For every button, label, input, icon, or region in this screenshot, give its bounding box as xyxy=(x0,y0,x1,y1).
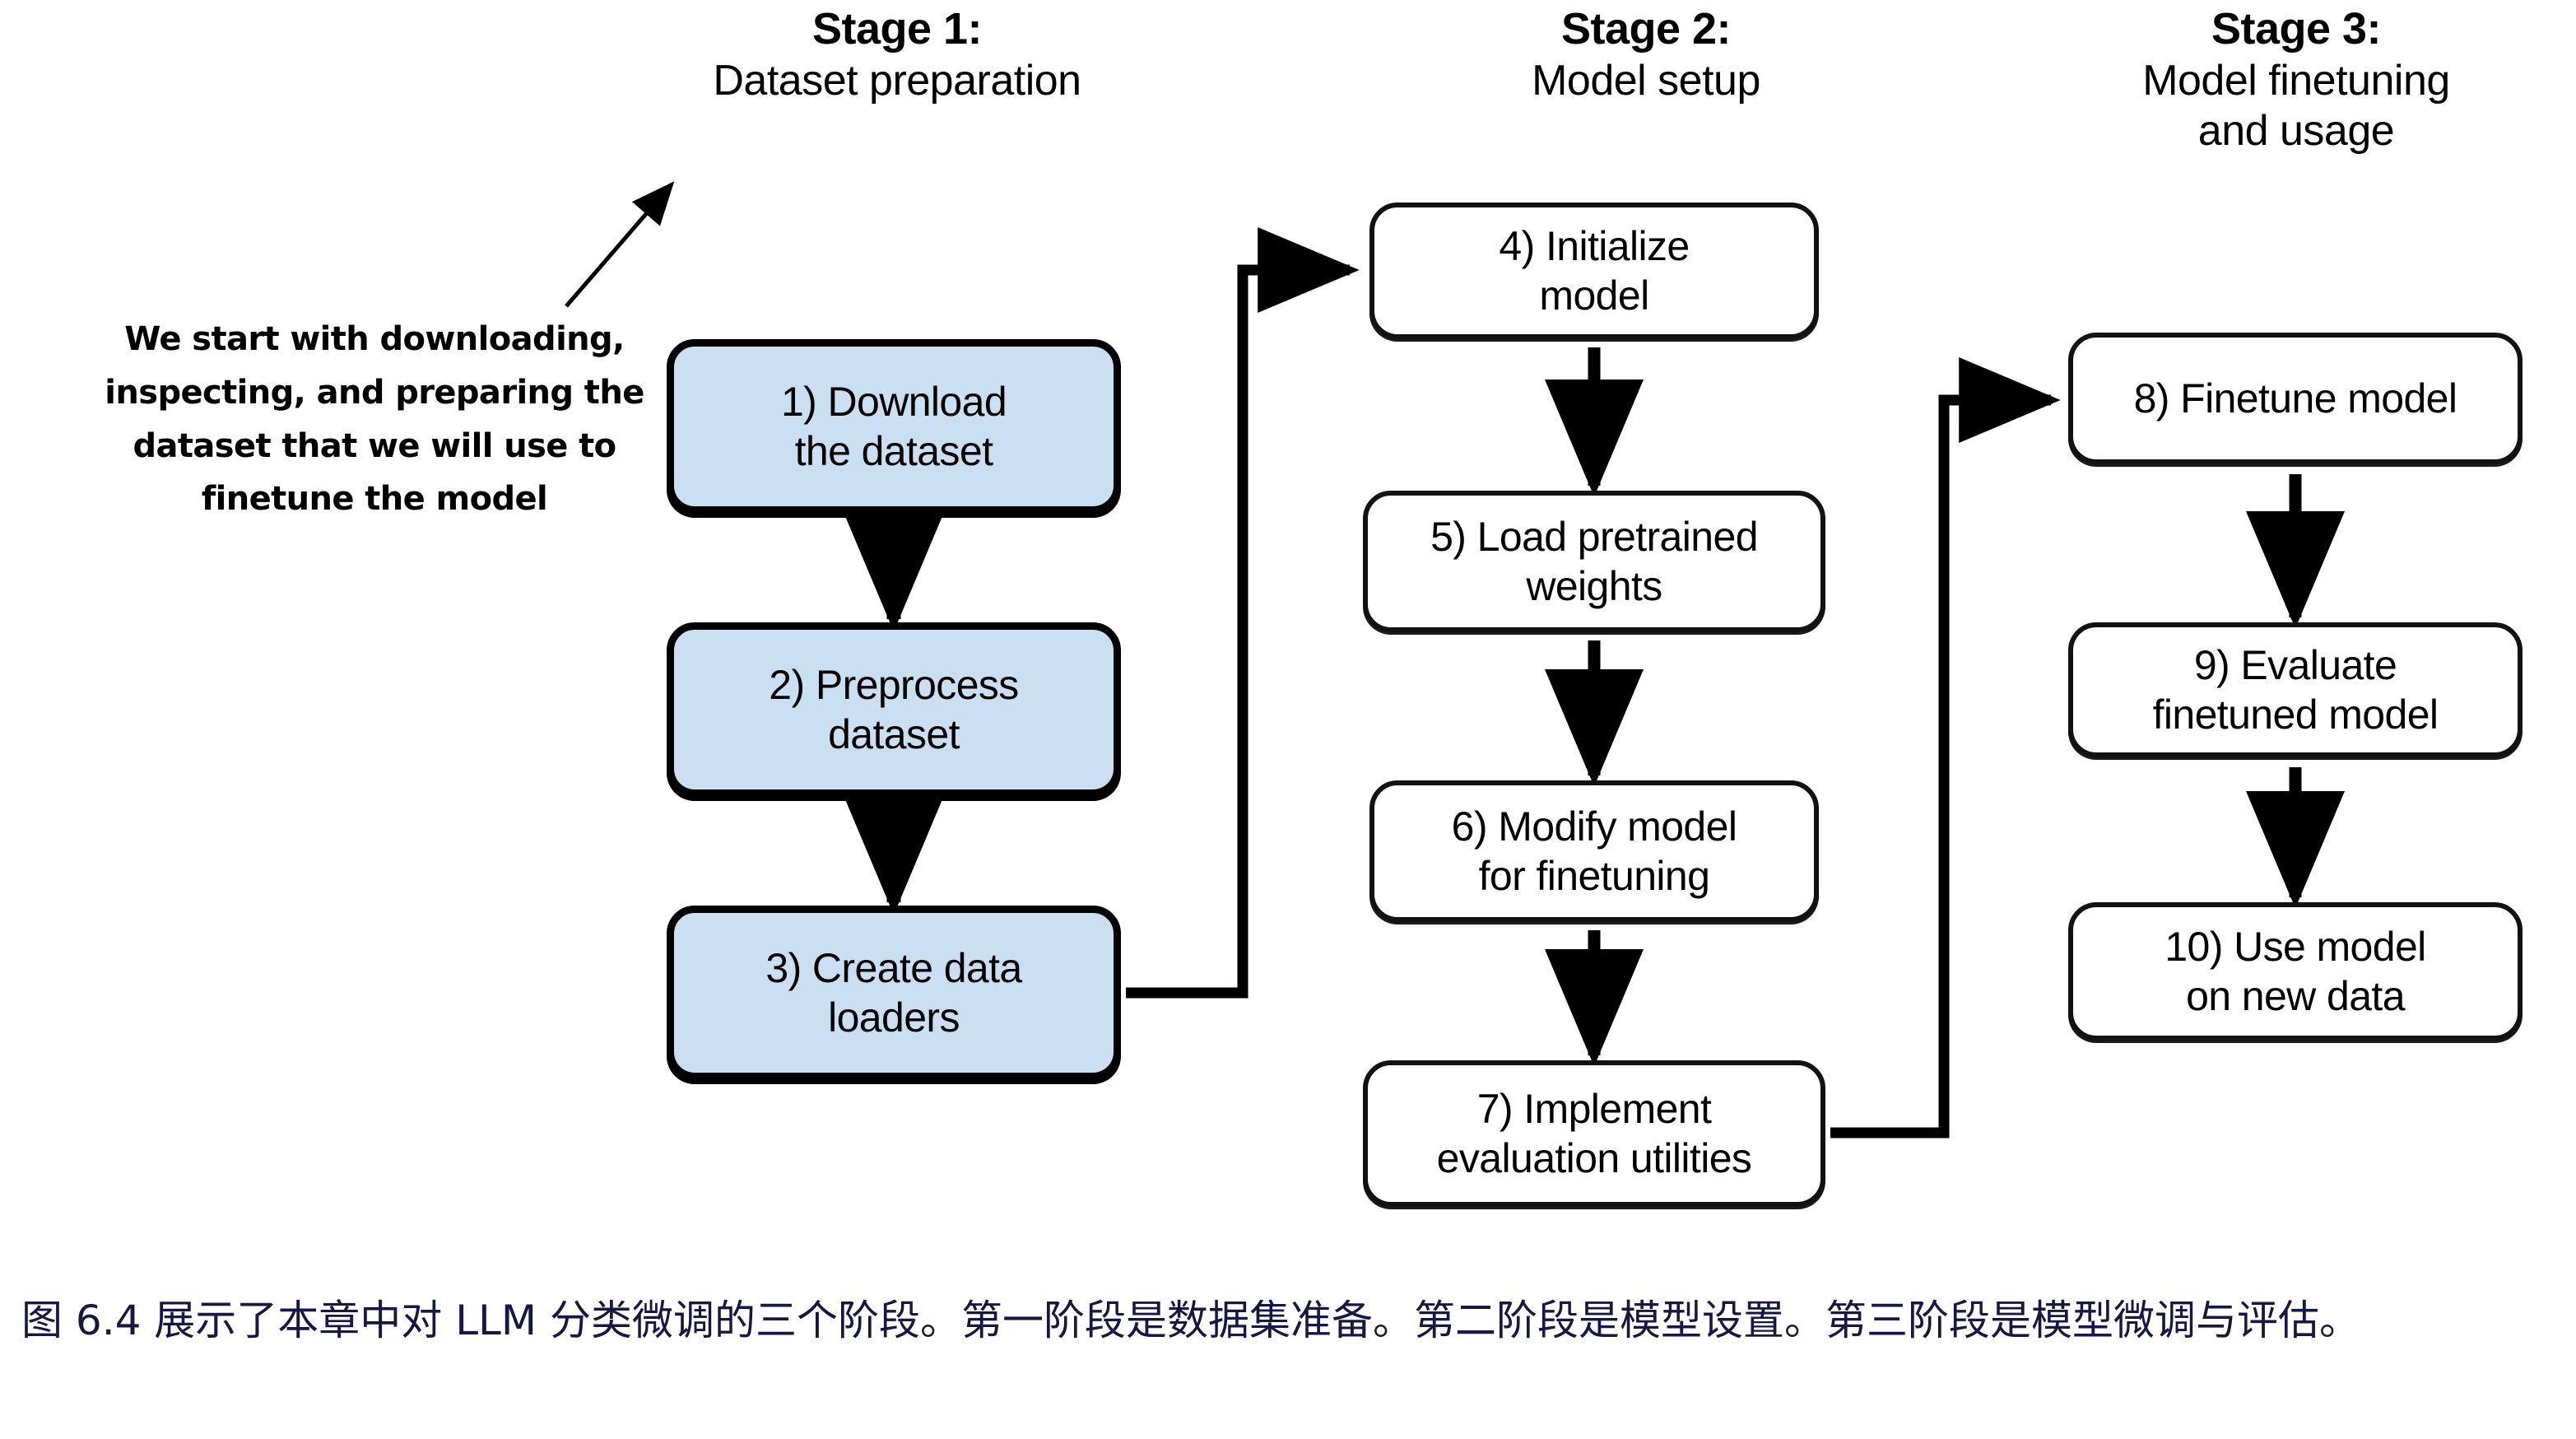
flow-node-initialize-model[interactable]: 4) Initialize model xyxy=(1369,203,1819,339)
stage-2-heading: Stage 2: Model setup xyxy=(1317,3,1975,106)
flow-node-download-dataset[interactable]: 1) Download the dataset xyxy=(667,339,1121,514)
flow-node-modify-model-for-finetuning[interactable]: 6) Modify model for finetuning xyxy=(1369,780,1819,922)
flow-node-create-data-loaders[interactable]: 3) Create data loaders xyxy=(667,906,1121,1080)
annotation-note: We start with downloading, inspecting, a… xyxy=(91,313,658,526)
stage-3-heading: Stage 3: Model finetuning and usage xyxy=(2016,3,2576,156)
stage-2-title: Stage 2: xyxy=(1317,3,1975,56)
edge-3-to-4 xyxy=(1126,270,1350,993)
stage-3-title: Stage 3: xyxy=(2016,3,2576,56)
flow-node-use-model-on-new-data[interactable]: 10) Use model on new data xyxy=(2068,902,2523,1041)
flow-node-preprocess-dataset[interactable]: 2) Preprocess dataset xyxy=(667,622,1121,797)
stage-2-subtitle: Model setup xyxy=(1317,56,1975,106)
stage-1-heading: Stage 1: Dataset preparation xyxy=(535,3,1259,106)
flow-node-implement-evaluation-utilities[interactable]: 7) Implement evaluation utilities xyxy=(1363,1060,1825,1207)
figure-caption: 图 6.4 展示了本章中对 LLM 分类微调的三个阶段。第一阶段是数据集准备。第… xyxy=(21,1291,2556,1351)
edge-7-to-8 xyxy=(1830,400,2051,1133)
stage-1-subtitle: Dataset preparation xyxy=(535,56,1259,106)
stage-3-subtitle: Model finetuning and usage xyxy=(2016,56,2576,157)
edge-annotation-to-stage1 xyxy=(566,184,672,306)
flow-node-evaluate-finetuned-model[interactable]: 9) Evaluate finetuned model xyxy=(2068,622,2523,757)
flow-node-load-pretrained-weights[interactable]: 5) Load pretrained weights xyxy=(1363,491,1825,632)
flow-node-finetune-model[interactable]: 8) Finetune model xyxy=(2068,333,2523,464)
stage-1-title: Stage 1: xyxy=(535,3,1259,56)
